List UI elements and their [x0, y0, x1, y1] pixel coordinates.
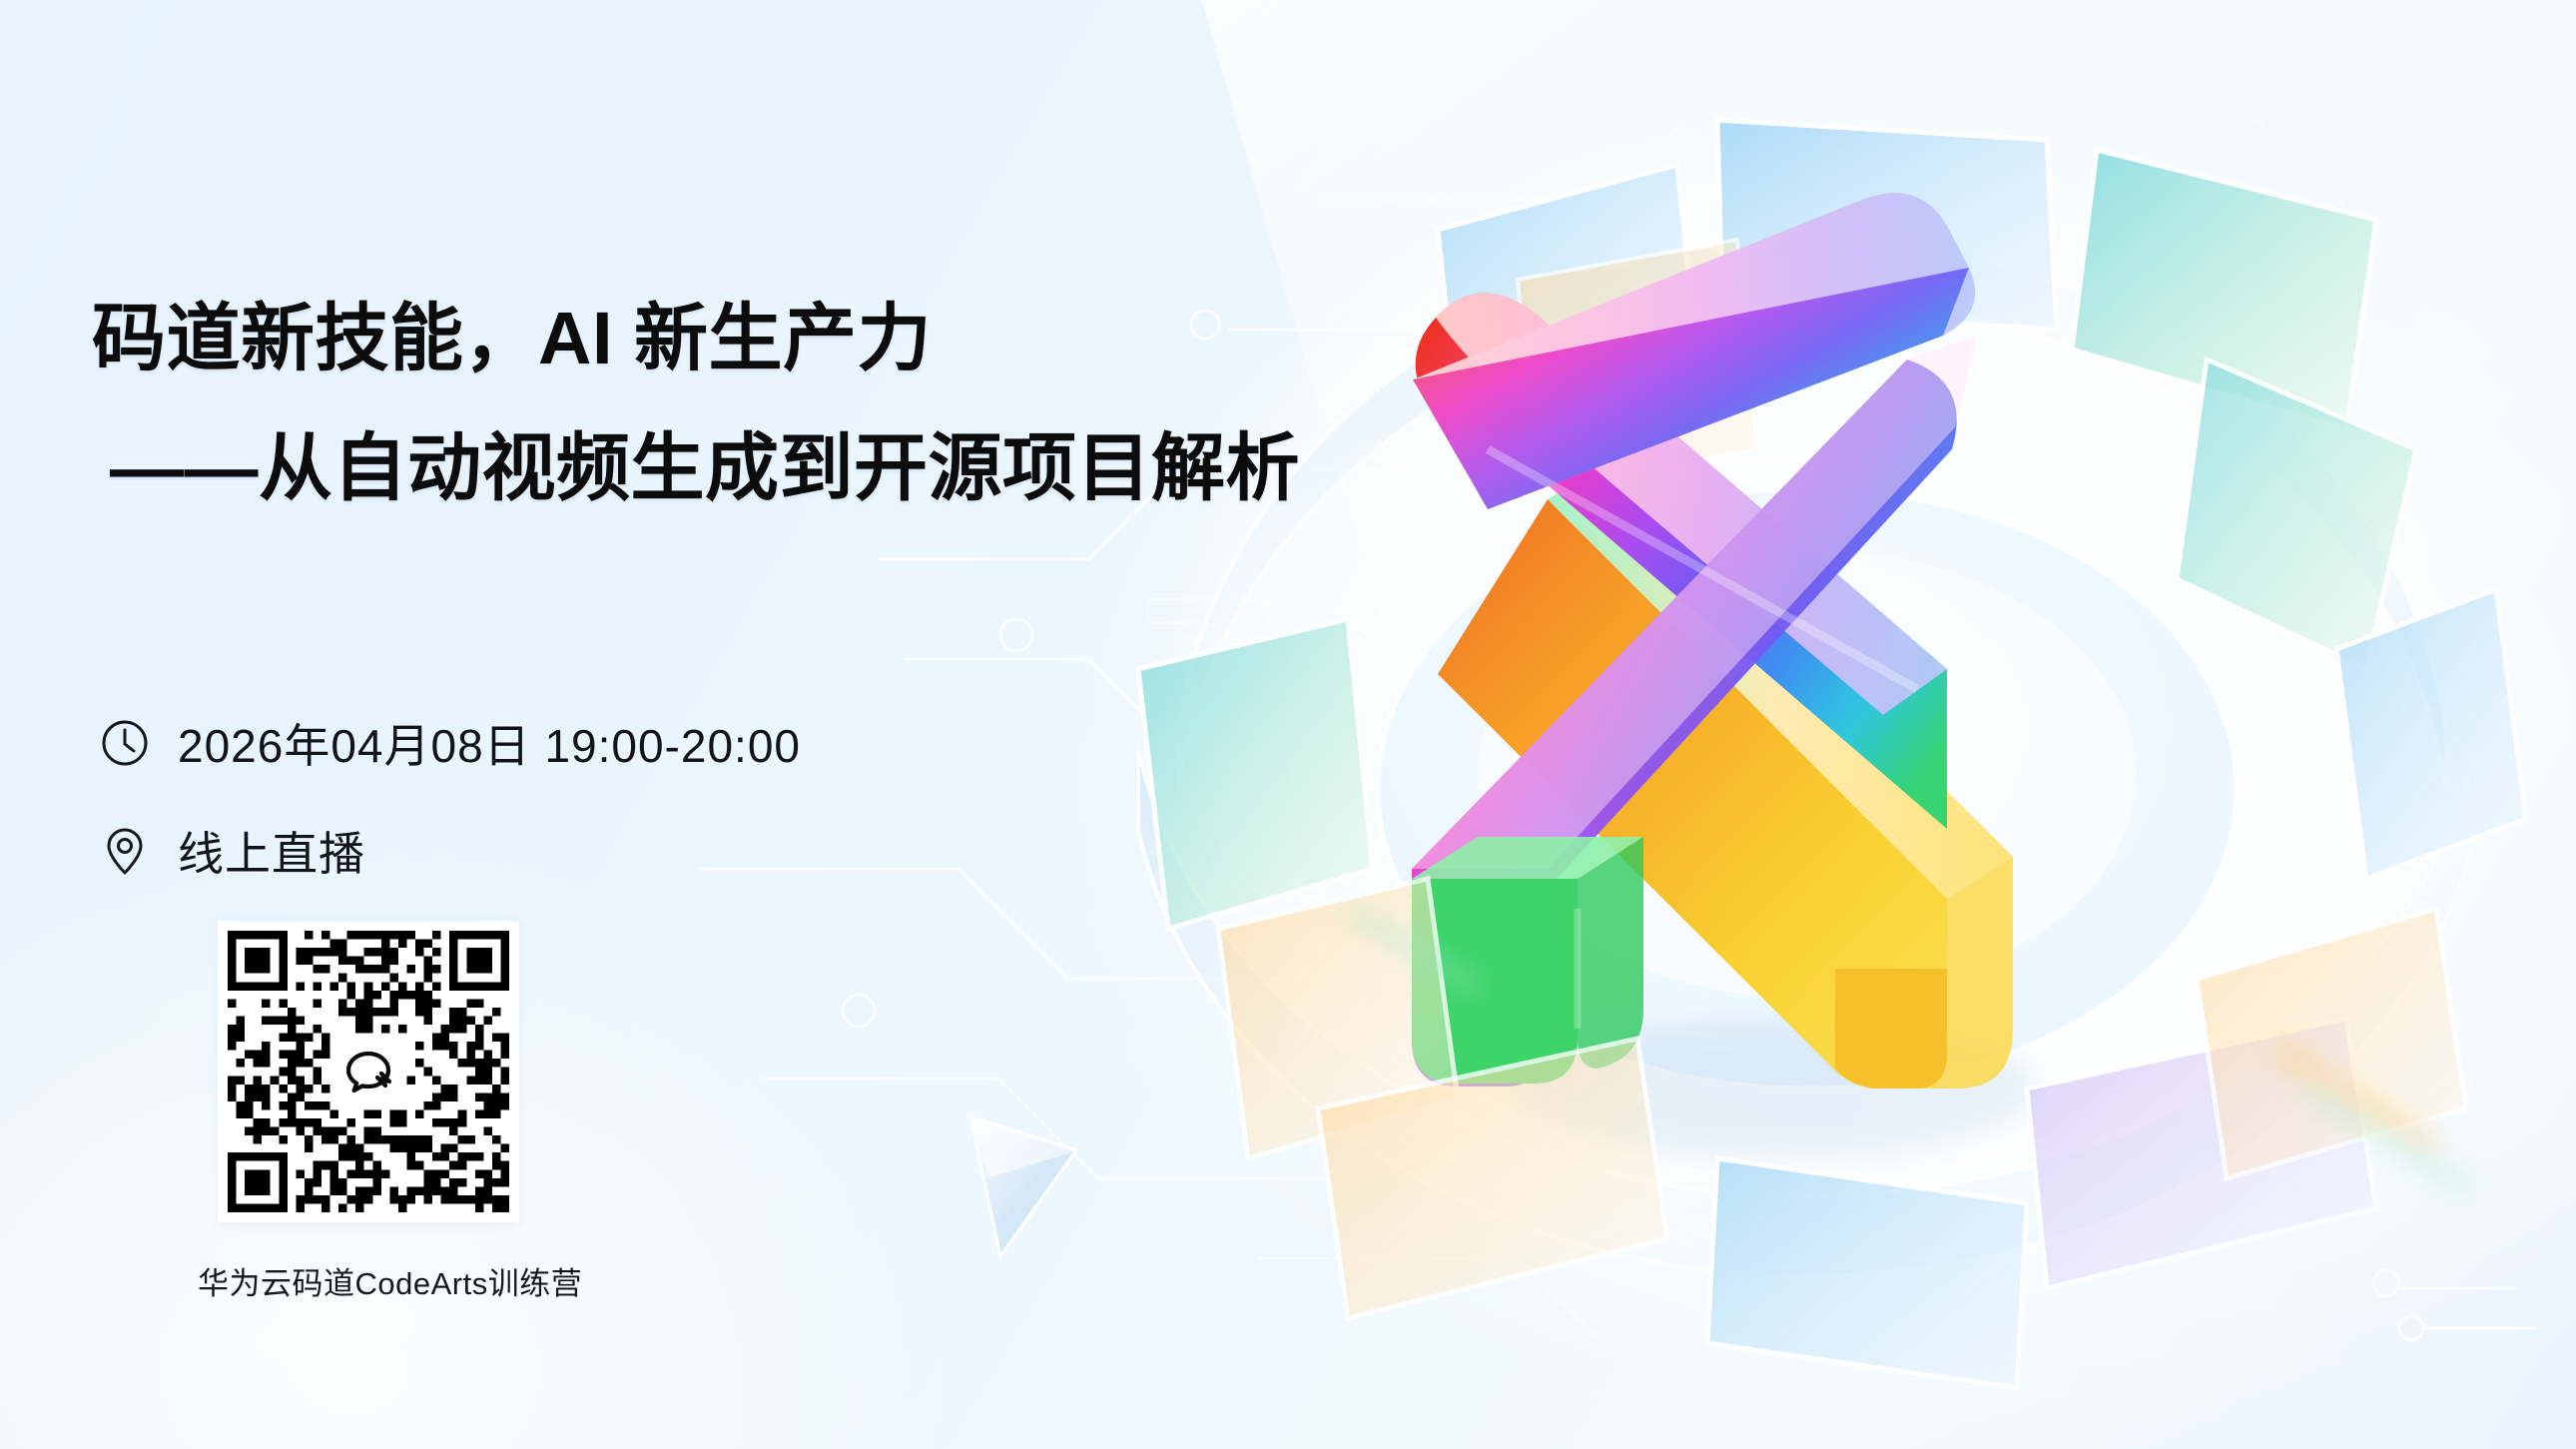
chat-bubble-icon	[331, 1035, 405, 1108]
event-datetime-text: 2026年04月08日 19:00-20:00	[178, 710, 801, 776]
location-pin-icon	[98, 824, 152, 878]
poster-content: 码道新技能，AI 新生产力 ——从自动视频生成到开源项目解析 2026年04月0…	[0, 0, 1498, 1449]
event-location-text: 线上直播	[178, 818, 365, 884]
clock-icon	[98, 716, 152, 770]
title-line-2: ——从自动视频生成到开源项目解析	[110, 429, 1510, 507]
title-block: 码道新技能，AI 新生产力 ——从自动视频生成到开源项目解析	[92, 300, 1510, 506]
qr-block: 华为云码道CodeArts训练营	[218, 921, 539, 1303]
qr-caption: 华为云码道CodeArts训练营	[198, 1258, 499, 1303]
event-location-row: 线上直播	[98, 815, 801, 887]
title-line-1: 码道新技能，AI 新生产力	[92, 300, 1510, 377]
qr-code[interactable]	[218, 921, 519, 1222]
event-datetime-row: 2026年04月08日 19:00-20:00	[98, 707, 801, 779]
event-poster: 码道新技能，AI 新生产力 ——从自动视频生成到开源项目解析 2026年04月0…	[0, 0, 2576, 1449]
event-meta: 2026年04月08日 19:00-20:00 线上直播	[98, 707, 801, 887]
